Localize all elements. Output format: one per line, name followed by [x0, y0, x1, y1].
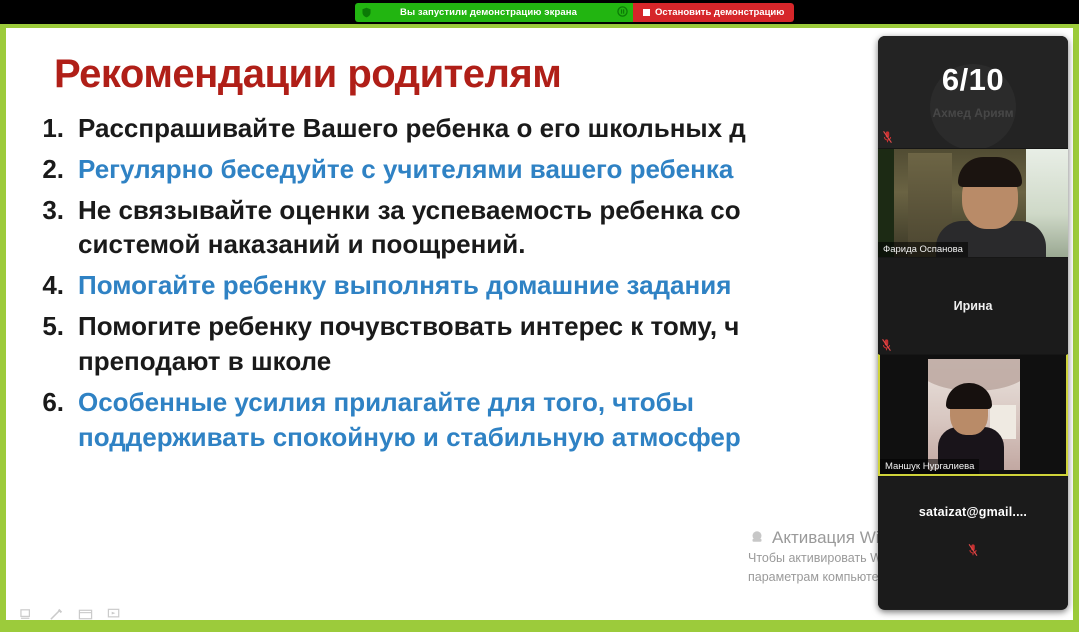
list-item-text: Не связывайте оценки за успеваемость реб…	[78, 193, 741, 263]
mic-muted-icon	[968, 543, 979, 557]
participant-tile[interactable]: Фарида Оспанова	[878, 148, 1068, 257]
list-item-number: 2.	[32, 152, 78, 187]
status-badge: 6/10	[878, 62, 1068, 98]
stop-square-icon	[643, 9, 650, 16]
list-item-line: системой наказаний и поощрений.	[78, 227, 741, 262]
list-item-line: Особенные усилия прилагайте для того, чт…	[78, 385, 741, 420]
list-item-line: Расспрашивайте Вашего ребенка о его школ…	[78, 111, 746, 146]
list-item: 2. Регулярно беседуйте с учителями вашег…	[32, 152, 932, 187]
mic-muted-icon	[881, 338, 892, 352]
list-item-line: поддерживать спокойную и стабильную атмо…	[78, 420, 741, 455]
list-item-text: Помогайте ребенку выполнять домашние зад…	[78, 268, 731, 303]
stop-share-button[interactable]: Остановить демонстрацию	[633, 3, 794, 22]
normal-view-icon[interactable]	[20, 607, 35, 620]
list-item-line: Регулярно беседуйте с учителями вашего р…	[78, 152, 733, 187]
recommendations-list: 1. Расспрашивайте Вашего ребенка о его ш…	[32, 111, 932, 460]
page-title: Рекомендации родителям	[54, 52, 561, 97]
pause-share-button[interactable]	[613, 3, 633, 22]
screen-root: Рекомендации родителям 1. Расспрашивайте…	[0, 0, 1079, 632]
participant-tile[interactable]: 6/10 Ахмед Ариям	[878, 36, 1068, 148]
reading-view-icon[interactable]	[78, 607, 93, 620]
list-item-number: 6.	[32, 385, 78, 420]
share-status-label: Вы запустили демонстрацию экрана	[378, 7, 603, 18]
participant-video-panel[interactable]: 6/10 Ахмед Ариям Фа	[878, 36, 1068, 610]
top-black-bar: Вы запустили демонстрацию экрана Останов…	[0, 0, 1079, 24]
windows-activation-icon	[748, 529, 766, 547]
list-item-text: Расспрашивайте Вашего ребенка о его школ…	[78, 111, 746, 146]
list-item: 6. Особенные усилия прилагайте для того,…	[32, 385, 932, 455]
mic-muted-icon	[882, 130, 893, 144]
participant-name: Ирина	[878, 299, 1068, 313]
list-item-line: Помогайте ребенку выполнять домашние зад…	[78, 268, 731, 303]
participant-tile-active-speaker[interactable]: Маншук Нургалиева	[878, 354, 1068, 476]
pen-annotate-icon[interactable]	[49, 607, 64, 620]
slide-view-toolbar	[20, 607, 122, 620]
participant-name: sataizat@gmail....	[878, 505, 1068, 519]
shield-icon	[361, 7, 372, 18]
participant-name: Маншук Нургалиева	[880, 459, 979, 475]
stop-share-label: Остановить демонстрацию	[655, 7, 784, 18]
list-item-number: 4.	[32, 268, 78, 303]
list-item: 4. Помогайте ребенку выполнять домашние …	[32, 268, 932, 303]
list-item-number: 5.	[32, 309, 78, 344]
list-item-number: 1.	[32, 111, 78, 146]
share-status-button[interactable]: Вы запустили демонстрацию экрана	[355, 3, 613, 22]
list-item: 3. Не связывайте оценки за успеваемость …	[32, 193, 932, 263]
list-item-text: Помогите ребенку почувствовать интерес к…	[78, 309, 739, 379]
list-item-number: 3.	[32, 193, 78, 228]
list-item-line: Не связывайте оценки за успеваемость реб…	[78, 193, 741, 228]
pause-share-icon	[617, 4, 628, 22]
list-item: 1. Расспрашивайте Вашего ребенка о его ш…	[32, 111, 932, 146]
list-item: 5. Помогите ребенку почувствовать интере…	[32, 309, 932, 379]
participant-name: Ахмед Ариям	[878, 106, 1068, 120]
participant-tile[interactable]: sataizat@gmail....	[878, 476, 1068, 609]
list-item-text: Регулярно беседуйте с учителями вашего р…	[78, 152, 733, 187]
slideshow-icon[interactable]	[107, 607, 122, 620]
list-item-line: преподают в школе	[78, 344, 739, 379]
participant-name: Фарида Оспанова	[878, 242, 968, 258]
list-item-text: Особенные усилия прилагайте для того, чт…	[78, 385, 741, 455]
participant-tile[interactable]: Ирина	[878, 257, 1068, 354]
screen-share-toolbar[interactable]: Вы запустили демонстрацию экрана Останов…	[355, 3, 794, 22]
list-item-line: Помогите ребенку почувствовать интерес к…	[78, 309, 739, 344]
video-feed	[928, 359, 1020, 470]
